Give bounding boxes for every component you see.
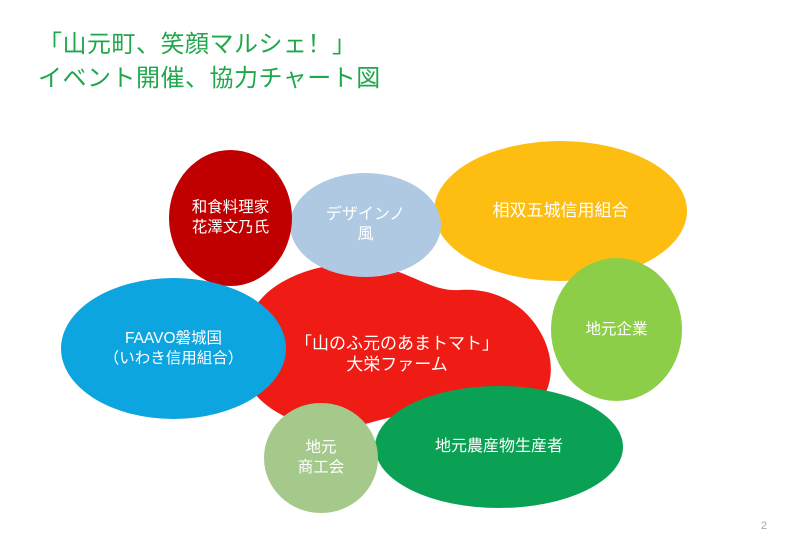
node-chef-label: 和食料理家 花澤文乃氏 (192, 198, 270, 237)
node-local-companies[interactable]: 地元企業 (551, 258, 682, 401)
node-soso-goshiro-credit-union[interactable]: 相双五城信用組合 (434, 141, 687, 281)
slide-canvas: 「山元町、笑顔マルシェ！」 イベント開催、協力チャート図 「山のふ元のあまトマト… (0, 0, 789, 546)
node-local-producers[interactable]: 地元農産物生産者 (375, 386, 623, 508)
node-design-no-kaze[interactable]: デザインノ 風 (290, 173, 441, 277)
node-local-chamber-of-commerce[interactable]: 地元 商工会 (264, 403, 378, 513)
node-chamber-label: 地元 商工会 (298, 438, 345, 477)
node-bank-label: 相双五城信用組合 (493, 200, 629, 221)
collaboration-chart: 「山のふ元のあまトマト」 大栄ファーム 和食料理家 花澤文乃氏 デザインノ 風 … (0, 0, 789, 546)
node-design-label: デザインノ 風 (326, 205, 405, 245)
node-faavo-label: FAAVO磐城国 （いわき信用組合） (104, 329, 244, 368)
page-number: 2 (761, 520, 767, 532)
node-farmers-label: 地元農産物生産者 (435, 437, 563, 457)
node-company-label: 地元企業 (585, 320, 647, 340)
node-faavo-iwakinokuni[interactable]: FAAVO磐城国 （いわき信用組合） (61, 278, 286, 419)
node-chef-hanazawa[interactable]: 和食料理家 花澤文乃氏 (169, 150, 292, 286)
